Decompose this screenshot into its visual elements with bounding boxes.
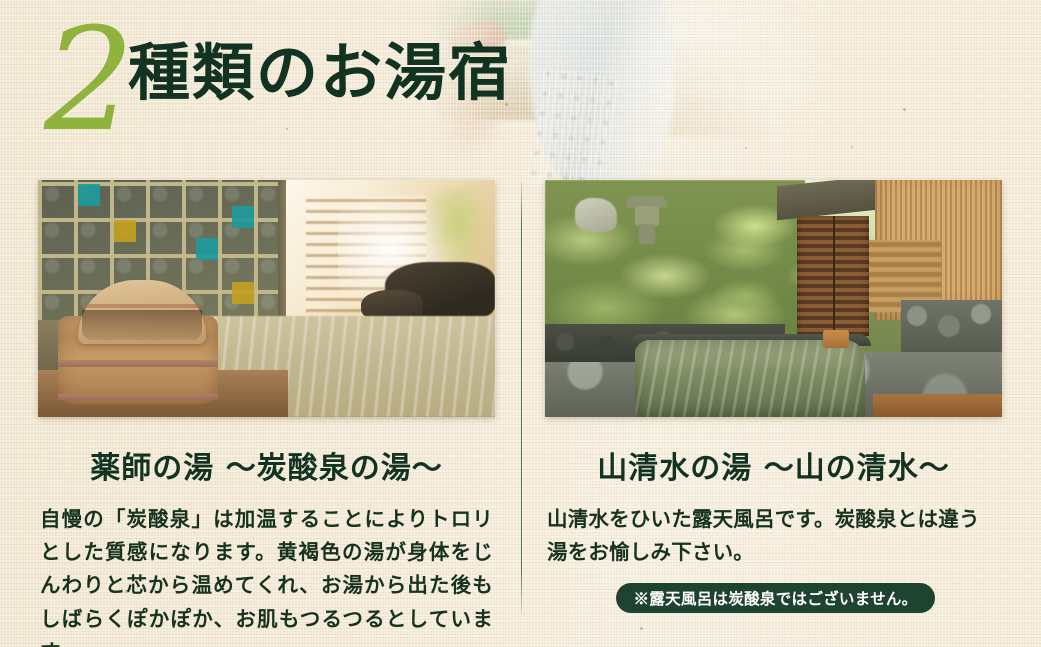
column-yakushi-no-yu: 薬師の湯 〜炭酸泉の湯〜 自慢の「炭酸泉」は加温することによりトロリとした質感に… [38,180,495,647]
accent-tile-yellow [114,220,136,242]
hero-hand [424,102,504,158]
tub-hoop-upper [58,360,218,367]
column-yamashimizu-no-yu: 山清水の湯 〜山の清水〜 山清水をひいた露天風呂です。炭酸泉とは違う湯をお愉しみ… [545,180,1002,569]
tub-lid-band [82,304,202,308]
section-heading-yakushi: 薬師の湯 〜炭酸泉の湯〜 [38,443,495,487]
open-air-pool-water [635,340,865,417]
accent-tile-teal [196,238,218,260]
paper-speck [903,108,906,111]
column-divider [521,182,522,612]
tub-hoop-lower [58,394,218,400]
tub-interior-shadow [82,310,202,340]
page-title: 種類のお湯宿 [128,40,512,107]
outdoor-bath-photo [545,180,1002,417]
hero-towel-pattern [526,67,620,197]
accent-tile-teal [78,184,100,206]
lattice-center-post [833,216,835,336]
paper-speck [851,146,853,148]
stone-lantern-body [635,206,659,226]
status-badge: ※露天風呂は炭酸泉ではございません。 [616,583,935,613]
wooden-step [873,394,1002,417]
accent-tile-teal [232,206,254,228]
section-heading-yamashimizu: 山清水の湯 〜山の清水〜 [545,443,1002,487]
wooden-bucket [823,330,849,348]
onsen-promo-page: 2 種類のお湯宿 [0,0,1041,647]
stone-lantern-base [639,224,655,244]
section-body-yakushi: 自慢の「炭酸泉」は加温することによりトロリとした質感になります。黄褐色の湯が身体… [40,503,493,647]
headline-number-text: 2 [44,0,134,163]
garden-stone [575,198,617,232]
section-body-yamashimizu: 山清水をひいた露天風呂です。炭酸泉とは違う湯をお愉しみ下さい。 [547,503,1000,569]
paper-speck [745,147,747,149]
stone-wall [901,300,1002,352]
accent-tile-yellow [232,282,254,304]
paper-speck [286,128,288,130]
headline-number: 2 [44,10,134,152]
indoor-bath-photo [38,180,495,417]
paper-speck [640,627,643,630]
